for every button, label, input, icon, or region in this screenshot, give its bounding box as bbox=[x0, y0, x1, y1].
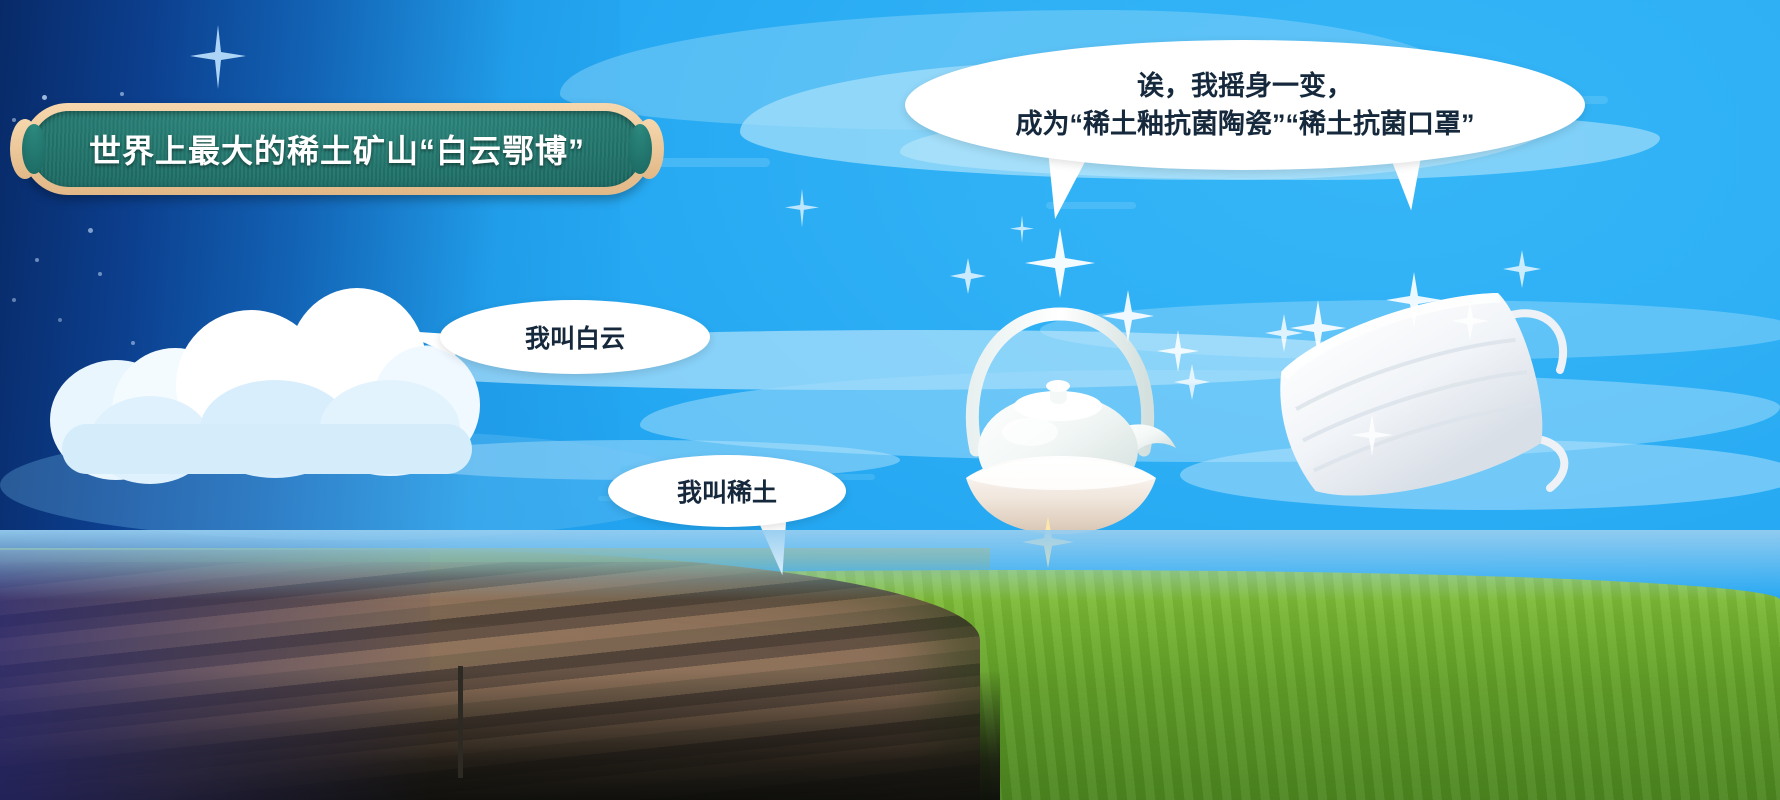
mine-blue-tint bbox=[0, 550, 430, 800]
face-mask-image bbox=[1272, 288, 1582, 518]
teapot-image bbox=[930, 280, 1190, 540]
star-dot bbox=[88, 228, 93, 233]
teapot-icon bbox=[930, 280, 1190, 540]
speech-line-1: 诶，我摇身一变， bbox=[1137, 71, 1353, 101]
cartoon-cloud bbox=[50, 288, 480, 468]
star-dot bbox=[12, 298, 16, 302]
speech-line-1: 我叫白云 bbox=[525, 319, 625, 355]
speech-line-1: 我叫稀土 bbox=[677, 473, 777, 509]
speech-bubble-transform: 诶，我摇身一变， 成为“稀土釉抗菌陶瓷”“稀土抗菌口罩” bbox=[905, 40, 1585, 170]
page-title: 世界上最大的稀土矿山“白云鄂博” bbox=[89, 126, 585, 172]
title-banner-panel: 世界上最大的稀土矿山“白云鄂博” bbox=[31, 111, 643, 187]
speech-bubble-rare-earth: 我叫稀土 bbox=[608, 455, 846, 527]
landscape-photo bbox=[0, 530, 1780, 800]
star-dot bbox=[12, 118, 16, 122]
speech-bubble-body: 诶，我摇身一变， 成为“稀土釉抗菌陶瓷”“稀土抗菌口罩” bbox=[905, 40, 1585, 170]
illustration-canvas: 世界上最大的稀土矿山“白云鄂博” bbox=[0, 0, 1780, 800]
star-dot bbox=[35, 258, 39, 262]
title-banner: 世界上最大的稀土矿山“白云鄂博” bbox=[22, 103, 652, 195]
star-dot bbox=[42, 95, 47, 100]
speech-line-2: 成为“稀土釉抗菌陶瓷”“稀土抗菌口罩” bbox=[1016, 109, 1475, 139]
face-mask-icon bbox=[1272, 288, 1582, 518]
speech-bubble-body: 我叫稀土 bbox=[608, 455, 846, 527]
utility-pole bbox=[458, 666, 463, 778]
star-dot bbox=[120, 92, 124, 96]
speech-bubble-cloud: 我叫白云 bbox=[440, 300, 710, 374]
speech-bubble-body: 我叫白云 bbox=[440, 300, 710, 374]
star-dot bbox=[98, 272, 102, 276]
